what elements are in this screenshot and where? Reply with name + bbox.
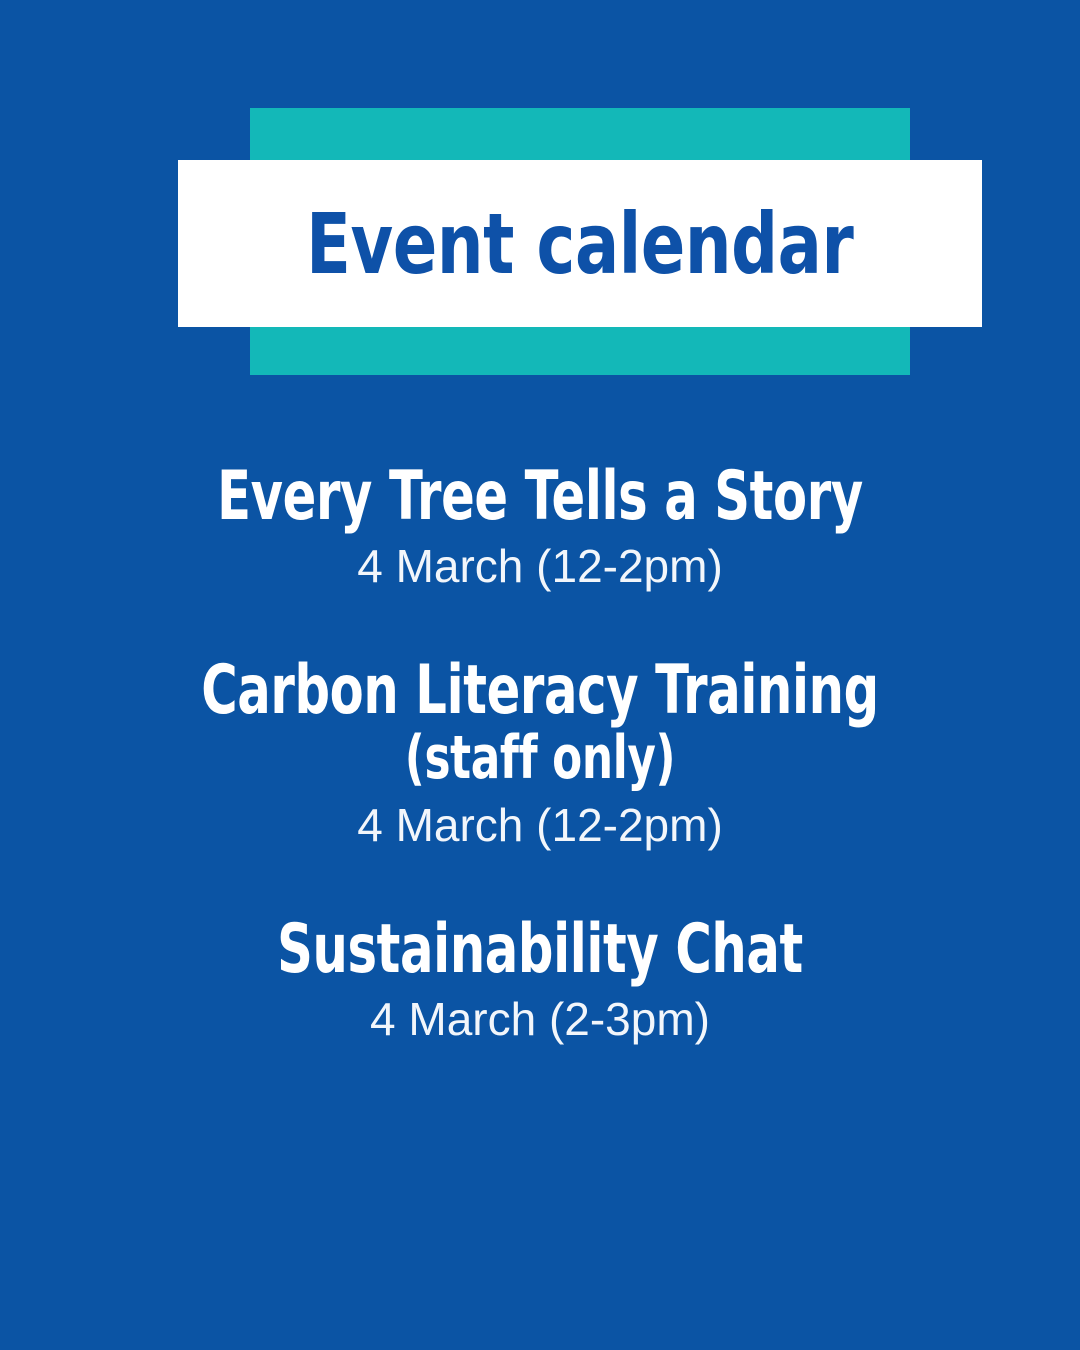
- header-white-panel: Event calendar: [178, 160, 982, 327]
- event-item-every-tree-tells-a-story: Every Tree Tells a Story 4 March (12-2pm…: [0, 462, 1080, 592]
- page-title: Event calendar: [306, 202, 853, 286]
- event-subtitle: (staff only): [146, 727, 934, 790]
- event-date: 4 March (12-2pm): [0, 541, 1080, 592]
- event-title: Sustainability Chat: [146, 915, 934, 984]
- event-title: Every Tree Tells a Story: [146, 462, 934, 531]
- event-calendar-poster: { "theme": { "background_color": "#0b54a…: [0, 0, 1080, 1350]
- event-date: 4 March (2-3pm): [0, 994, 1080, 1045]
- event-item-sustainability-chat: Sustainability Chat 4 March (2-3pm): [0, 915, 1080, 1045]
- header-banner: Event calendar: [0, 0, 1080, 400]
- event-title: Carbon Literacy Training: [146, 656, 934, 725]
- event-item-carbon-literacy-training: Carbon Literacy Training (staff only) 4 …: [0, 656, 1080, 851]
- event-date: 4 March (12-2pm): [0, 800, 1080, 851]
- event-list: Every Tree Tells a Story 4 March (12-2pm…: [0, 462, 1080, 1045]
